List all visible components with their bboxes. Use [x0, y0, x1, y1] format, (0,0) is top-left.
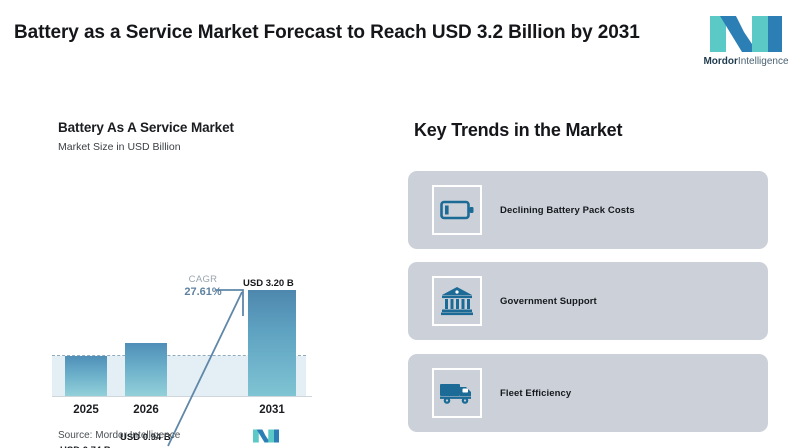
trend-card-government-support[interactable]: Government Support — [408, 262, 768, 340]
logo-m-icon — [710, 14, 782, 54]
chart-source: Source: Mordor Intelligence — [58, 430, 180, 441]
page-title: Battery as a Service Market Forecast to … — [14, 20, 664, 47]
icon-frame — [432, 185, 482, 235]
infographic-root: Battery as a Service Market Forecast to … — [0, 0, 800, 448]
cagr-annotation: CAGR 27.61% — [180, 274, 226, 298]
trend-card-declining-battery-pack-costs[interactable]: Declining Battery Pack Costs — [408, 171, 768, 249]
trend-card-label: Fleet Efficiency — [500, 354, 571, 432]
bar-chart-plot: USD 0.74 B USD 0.94 B USD 3.20 B 2025 20… — [0, 108, 390, 448]
logo-word-mordor: Mordor — [703, 56, 737, 67]
logo-wordmark: MordorIntelligence — [700, 56, 792, 67]
chart-panel: Battery As A Service Market Market Size … — [0, 108, 390, 448]
logo-word-intelligence: Intelligence — [738, 56, 789, 67]
mordor-intelligence-logo: MordorIntelligence — [700, 14, 792, 72]
x-tick-2025: 2025 — [56, 404, 116, 416]
bar-2025[interactable] — [65, 356, 107, 396]
icon-frame — [432, 276, 482, 326]
battery-low-icon — [440, 198, 474, 222]
cagr-label-text: CAGR — [180, 274, 226, 285]
trend-card-label: Declining Battery Pack Costs — [500, 171, 635, 249]
delivery-truck-icon — [439, 381, 475, 405]
trend-card-fleet-efficiency[interactable]: Fleet Efficiency — [408, 354, 768, 432]
cagr-growth-arrow-icon — [150, 278, 260, 448]
trend-card-label: Government Support — [500, 262, 597, 340]
trends-title: Key Trends in the Market — [414, 120, 622, 141]
source-logo-icon — [253, 428, 279, 444]
mordor-logo-mark — [700, 14, 792, 54]
icon-frame — [432, 368, 482, 418]
government-building-icon — [441, 286, 473, 316]
cagr-value-text: 27.61% — [180, 286, 226, 298]
